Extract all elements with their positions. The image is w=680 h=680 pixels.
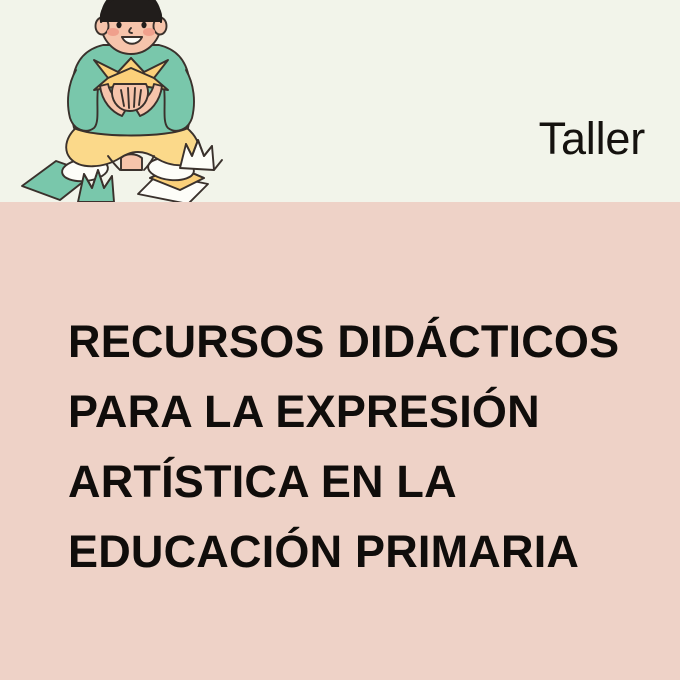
poster-canvas: Taller RECURSOS DIDÁCTICOS PARA LA EXPRE… (0, 0, 680, 680)
headline-line-1: RECURSOS DIDÁCTICOS (68, 307, 648, 377)
child-doing-origami-icon (8, 0, 238, 202)
poster-bottom-band: RECURSOS DIDÁCTICOS PARA LA EXPRESIÓN AR… (0, 202, 680, 680)
poster-top-band: Taller (0, 0, 680, 202)
headline-line-4: EDUCACIÓN PRIMARIA (68, 517, 648, 587)
headline-line-2: PARA LA EXPRESIÓN (68, 377, 648, 447)
page-title: RECURSOS DIDÁCTICOS PARA LA EXPRESIÓN AR… (68, 307, 648, 587)
headline-line-3: ARTÍSTICA EN LA (68, 447, 648, 517)
kicker-label: Taller (539, 116, 645, 161)
